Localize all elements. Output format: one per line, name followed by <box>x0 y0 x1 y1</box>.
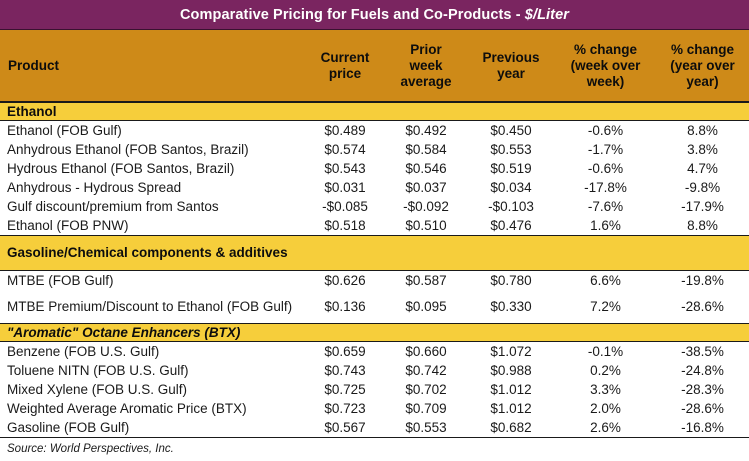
page-title: Comparative Pricing for Fuels and Co-Pro… <box>0 0 749 30</box>
cell-prior-week-average: $0.510 <box>385 216 467 236</box>
cell-current-price: $0.489 <box>305 121 385 141</box>
cell-product: Ethanol (FOB PNW) <box>0 216 305 236</box>
cell-product: Mixed Xylene (FOB U.S. Gulf) <box>0 380 305 399</box>
cell-prior-week-average: $0.584 <box>385 140 467 159</box>
cell-pct-change-yoy: -28.6% <box>656 290 749 324</box>
section-header-spacer <box>467 236 555 271</box>
table-row: Gulf discount/premium from Santos-$0.085… <box>0 197 749 216</box>
section-header-spacer <box>467 324 555 342</box>
cell-previous-year: $1.072 <box>467 342 555 362</box>
section-header-spacer <box>467 102 555 121</box>
cell-previous-year: $0.780 <box>467 271 555 291</box>
cell-previous-year: $1.012 <box>467 380 555 399</box>
cell-pct-change-wow: -0.6% <box>555 159 656 178</box>
table-row: Ethanol (FOB PNW)$0.518$0.510$0.4761.6%8… <box>0 216 749 236</box>
column-header-pct-change-wow: % change (week over week) <box>555 30 656 102</box>
cell-prior-week-average: $0.742 <box>385 361 467 380</box>
pricing-table: Product Current price Prior week average… <box>0 30 749 438</box>
cell-previous-year: $0.034 <box>467 178 555 197</box>
cell-current-price: $0.743 <box>305 361 385 380</box>
cell-previous-year: $0.450 <box>467 121 555 141</box>
cell-current-price: $0.031 <box>305 178 385 197</box>
table-row: Ethanol (FOB Gulf)$0.489$0.492$0.450-0.6… <box>0 121 749 141</box>
section-header-spacer <box>656 102 749 121</box>
cell-previous-year: $0.476 <box>467 216 555 236</box>
cell-prior-week-average: -$0.092 <box>385 197 467 216</box>
section-header-spacer <box>305 324 385 342</box>
cell-previous-year: $0.988 <box>467 361 555 380</box>
cell-product: Gasoline (FOB Gulf) <box>0 418 305 438</box>
cell-pct-change-yoy: -28.3% <box>656 380 749 399</box>
cell-current-price: $0.567 <box>305 418 385 438</box>
cell-previous-year: $0.519 <box>467 159 555 178</box>
section-header-row: "Aromatic" Octane Enhancers (BTX) <box>0 324 749 342</box>
table-row: Benzene (FOB U.S. Gulf)$0.659$0.660$1.07… <box>0 342 749 362</box>
section-header-spacer <box>555 236 656 271</box>
column-header-pct-change-yoy: % change (year over year) <box>656 30 749 102</box>
table-row: Anhydrous Ethanol (FOB Santos, Brazil)$0… <box>0 140 749 159</box>
cell-prior-week-average: $0.037 <box>385 178 467 197</box>
cell-current-price: $0.725 <box>305 380 385 399</box>
cell-pct-change-wow: 2.0% <box>555 399 656 418</box>
table-row: Gasoline (FOB Gulf)$0.567$0.553$0.6822.6… <box>0 418 749 438</box>
section-header-spacer <box>656 236 749 271</box>
section-header-spacer <box>555 324 656 342</box>
cell-pct-change-wow: -1.7% <box>555 140 656 159</box>
cell-prior-week-average: $0.660 <box>385 342 467 362</box>
cell-product: MTBE Premium/Discount to Ethanol (FOB Gu… <box>0 290 305 324</box>
cell-pct-change-yoy: 3.8% <box>656 140 749 159</box>
cell-product: Benzene (FOB U.S. Gulf) <box>0 342 305 362</box>
cell-pct-change-yoy: -38.5% <box>656 342 749 362</box>
cell-pct-change-yoy: -28.6% <box>656 399 749 418</box>
cell-pct-change-yoy: -24.8% <box>656 361 749 380</box>
cell-product: Weighted Average Aromatic Price (BTX) <box>0 399 305 418</box>
table-row: MTBE Premium/Discount to Ethanol (FOB Gu… <box>0 290 749 324</box>
section-header-spacer <box>305 236 385 271</box>
cell-previous-year: $0.682 <box>467 418 555 438</box>
cell-current-price: $0.574 <box>305 140 385 159</box>
table-row: Weighted Average Aromatic Price (BTX)$0.… <box>0 399 749 418</box>
cell-pct-change-yoy: -16.8% <box>656 418 749 438</box>
cell-pct-change-wow: -0.6% <box>555 121 656 141</box>
cell-pct-change-yoy: -19.8% <box>656 271 749 291</box>
table-row: MTBE (FOB Gulf)$0.626$0.587$0.7806.6%-19… <box>0 271 749 291</box>
section-header-row: Ethanol <box>0 102 749 121</box>
cell-pct-change-wow: 6.6% <box>555 271 656 291</box>
section-header-label: "Aromatic" Octane Enhancers (BTX) <box>0 324 305 342</box>
cell-prior-week-average: $0.709 <box>385 399 467 418</box>
column-header-product: Product <box>0 30 305 102</box>
pricing-table-panel: Comparative Pricing for Fuels and Co-Pro… <box>0 0 749 461</box>
cell-prior-week-average: $0.546 <box>385 159 467 178</box>
cell-pct-change-yoy: 8.8% <box>656 216 749 236</box>
table-row: Anhydrous - Hydrous Spread$0.031$0.037$0… <box>0 178 749 197</box>
cell-pct-change-wow: -0.1% <box>555 342 656 362</box>
cell-prior-week-average: $0.492 <box>385 121 467 141</box>
cell-product: Ethanol (FOB Gulf) <box>0 121 305 141</box>
table-row: Mixed Xylene (FOB U.S. Gulf)$0.725$0.702… <box>0 380 749 399</box>
column-header-previous-year: Previous year <box>467 30 555 102</box>
cell-current-price: $0.543 <box>305 159 385 178</box>
source-note: Source: World Perspectives, Inc. <box>0 438 749 455</box>
cell-prior-week-average: $0.702 <box>385 380 467 399</box>
cell-current-price: $0.518 <box>305 216 385 236</box>
cell-current-price: $0.626 <box>305 271 385 291</box>
column-header-current-price: Current price <box>305 30 385 102</box>
cell-pct-change-yoy: 4.7% <box>656 159 749 178</box>
cell-previous-year: $1.012 <box>467 399 555 418</box>
cell-pct-change-yoy: 8.8% <box>656 121 749 141</box>
cell-product: Anhydrous - Hydrous Spread <box>0 178 305 197</box>
cell-previous-year: $0.330 <box>467 290 555 324</box>
section-header-spacer <box>656 324 749 342</box>
cell-pct-change-yoy: -9.8% <box>656 178 749 197</box>
cell-pct-change-wow: -7.6% <box>555 197 656 216</box>
table-header-row: Product Current price Prior week average… <box>0 30 749 102</box>
cell-prior-week-average: $0.587 <box>385 271 467 291</box>
table-row: Hydrous Ethanol (FOB Santos, Brazil)$0.5… <box>0 159 749 178</box>
cell-pct-change-wow: -17.8% <box>555 178 656 197</box>
cell-current-price: $0.136 <box>305 290 385 324</box>
page-title-units: $/Liter <box>525 7 569 23</box>
cell-prior-week-average: $0.553 <box>385 418 467 438</box>
cell-product: Hydrous Ethanol (FOB Santos, Brazil) <box>0 159 305 178</box>
cell-pct-change-wow: 1.6% <box>555 216 656 236</box>
cell-pct-change-wow: 0.2% <box>555 361 656 380</box>
cell-pct-change-wow: 7.2% <box>555 290 656 324</box>
cell-product: Anhydrous Ethanol (FOB Santos, Brazil) <box>0 140 305 159</box>
cell-previous-year: $0.553 <box>467 140 555 159</box>
section-header-spacer <box>385 324 467 342</box>
cell-current-price: $0.659 <box>305 342 385 362</box>
cell-pct-change-yoy: -17.9% <box>656 197 749 216</box>
cell-current-price: -$0.085 <box>305 197 385 216</box>
column-header-prior-week-average: Prior week average <box>385 30 467 102</box>
cell-previous-year: -$0.103 <box>467 197 555 216</box>
section-header-row: Gasoline/Chemical components & additives <box>0 236 749 271</box>
section-header-spacer <box>555 102 656 121</box>
cell-product: Toluene NITN (FOB U.S. Gulf) <box>0 361 305 380</box>
section-header-spacer <box>385 102 467 121</box>
section-header-label: Ethanol <box>0 102 305 121</box>
cell-product: Gulf discount/premium from Santos <box>0 197 305 216</box>
section-header-spacer <box>305 102 385 121</box>
section-header-label: Gasoline/Chemical components & additives <box>0 236 305 271</box>
table-row: Toluene NITN (FOB U.S. Gulf)$0.743$0.742… <box>0 361 749 380</box>
cell-prior-week-average: $0.095 <box>385 290 467 324</box>
section-header-spacer <box>385 236 467 271</box>
page-title-main: Comparative Pricing for Fuels and Co-Pro… <box>180 7 525 23</box>
cell-product: MTBE (FOB Gulf) <box>0 271 305 291</box>
cell-current-price: $0.723 <box>305 399 385 418</box>
cell-pct-change-wow: 2.6% <box>555 418 656 438</box>
cell-pct-change-wow: 3.3% <box>555 380 656 399</box>
